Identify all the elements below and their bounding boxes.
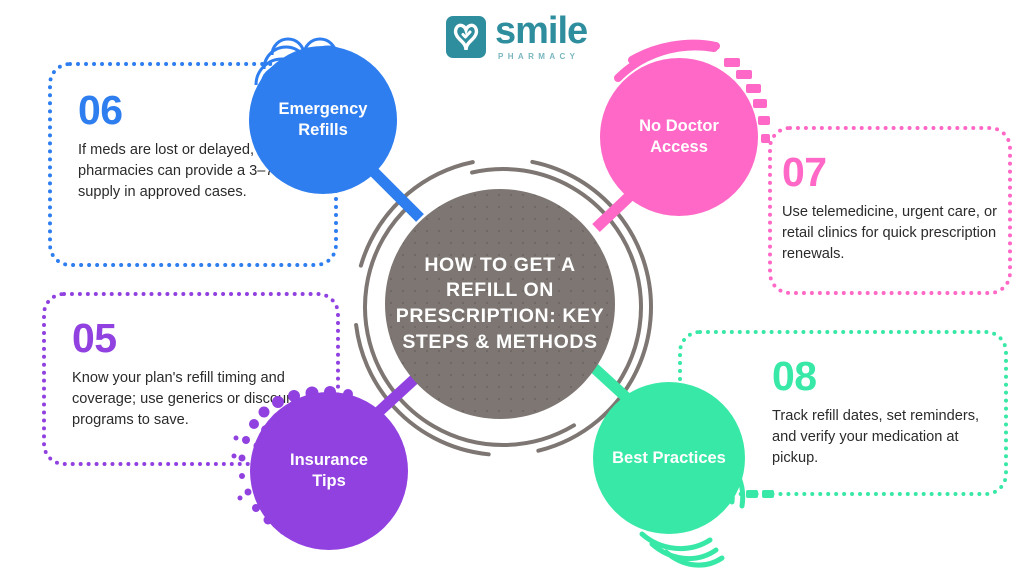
node-no-doctor-access[interactable]: No Doctor Access	[600, 58, 758, 216]
infographic-canvas: smile PHARMACY HOW TO GET A REFILL ON PR…	[0, 0, 1024, 576]
node-label-insurance-tips: Insurance Tips	[272, 450, 387, 491]
node-label-best-practices: Best Practices	[612, 448, 727, 469]
center-circle: HOW TO GET A REFILL ON PRESCRIPTION: KEY…	[385, 189, 615, 419]
node-emergency-refills[interactable]: Emergency Refills	[249, 46, 397, 194]
node-label-emergency-refills: Emergency Refills	[266, 99, 381, 140]
node-insurance-tips[interactable]: Insurance Tips	[250, 392, 408, 550]
node-label-no-doctor-access: No Doctor Access	[622, 116, 737, 157]
center-title: HOW TO GET A REFILL ON PRESCRIPTION: KEY…	[395, 253, 605, 356]
node-best-practices[interactable]: Best Practices	[593, 382, 745, 534]
